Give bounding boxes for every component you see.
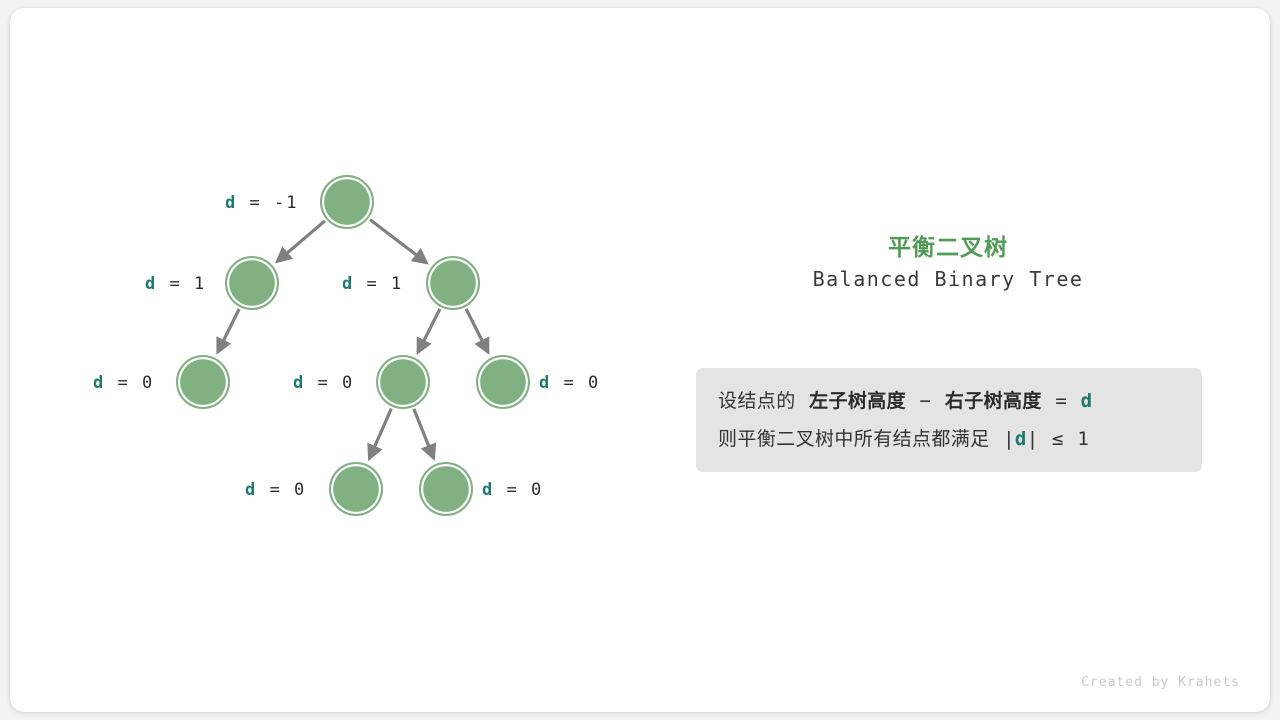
label-value: = 0 (551, 373, 600, 393)
balance-condition-prefix: 则平衡二叉树中所有结点都满足 (718, 428, 990, 450)
equals-operator: = (1055, 390, 1067, 412)
tree-edge (277, 221, 325, 262)
tree-node-n2[interactable] (426, 256, 480, 310)
node-label-n3: d = 0 (93, 375, 154, 392)
balance-limit-value: 1 (1077, 428, 1089, 450)
tree-node-n7[interactable] (419, 462, 473, 516)
definition-prefix: 设结点的 (718, 390, 796, 412)
label-variable: d (145, 274, 157, 294)
label-variable: d (293, 373, 305, 393)
tree-node-n6[interactable] (329, 462, 383, 516)
label-value: = 1 (354, 274, 403, 294)
label-value: = 0 (494, 480, 543, 500)
tree-node-n1[interactable] (225, 256, 279, 310)
minus-operator: − (920, 390, 932, 412)
credit-text: Created by Krahets (900, 675, 1240, 690)
node-label-n4: d = 0 (293, 375, 354, 392)
tree-node-n5[interactable] (476, 355, 530, 409)
node-label-n0: d = -1 (225, 195, 298, 212)
tree-node-n3[interactable] (176, 355, 230, 409)
abs-bar-open: | (1003, 428, 1015, 450)
page-title: 平衡二叉树 (698, 228, 1198, 262)
label-variable: d (342, 274, 354, 294)
label-variable: d (482, 480, 494, 500)
right-subtree-height-term: 右子树高度 (945, 390, 1042, 412)
label-variable: d (93, 373, 105, 393)
variable-d-abs: d (1015, 428, 1027, 450)
tree-edge (466, 309, 488, 353)
page-subtitle: Balanced Binary Tree (698, 267, 1198, 291)
definition-line-1: 设结点的 左子树高度 − 右子树高度 = d (718, 382, 1180, 420)
label-variable: d (539, 373, 551, 393)
label-value: = 0 (105, 373, 154, 393)
node-label-n1: d = 1 (145, 276, 206, 293)
label-variable: d (245, 480, 257, 500)
label-value: = 1 (157, 274, 206, 294)
left-subtree-height-term: 左子树高度 (809, 390, 906, 412)
tree-edge (370, 220, 427, 263)
page-background: d = -1d = 1d = 1d = 0d = 0d = 0d = 0d = … (0, 0, 1280, 720)
tree-edge (369, 409, 391, 459)
variable-d: d (1081, 390, 1093, 412)
node-label-n5: d = 0 (539, 375, 600, 392)
node-label-n2: d = 1 (342, 276, 403, 293)
tree-edge (218, 309, 239, 352)
node-label-n6: d = 0 (245, 482, 306, 499)
definition-infobox: 设结点的 左子树高度 − 右子树高度 = d 则平衡二叉树中所有结点都满足 |d… (696, 368, 1202, 472)
tree-edge (414, 409, 434, 458)
tree-node-n4[interactable] (376, 355, 430, 409)
tree-node-n0[interactable] (320, 175, 374, 229)
label-variable: d (225, 193, 237, 213)
definition-line-2: 则平衡二叉树中所有结点都满足 |d| ≤ 1 (718, 420, 1180, 458)
abs-bar-close: | (1027, 428, 1039, 450)
label-value: = -1 (237, 193, 298, 213)
label-value: = 0 (257, 480, 306, 500)
tree-edge (418, 309, 440, 353)
node-label-n7: d = 0 (482, 482, 543, 499)
label-value: = 0 (305, 373, 354, 393)
less-equal-operator: ≤ (1052, 428, 1064, 450)
